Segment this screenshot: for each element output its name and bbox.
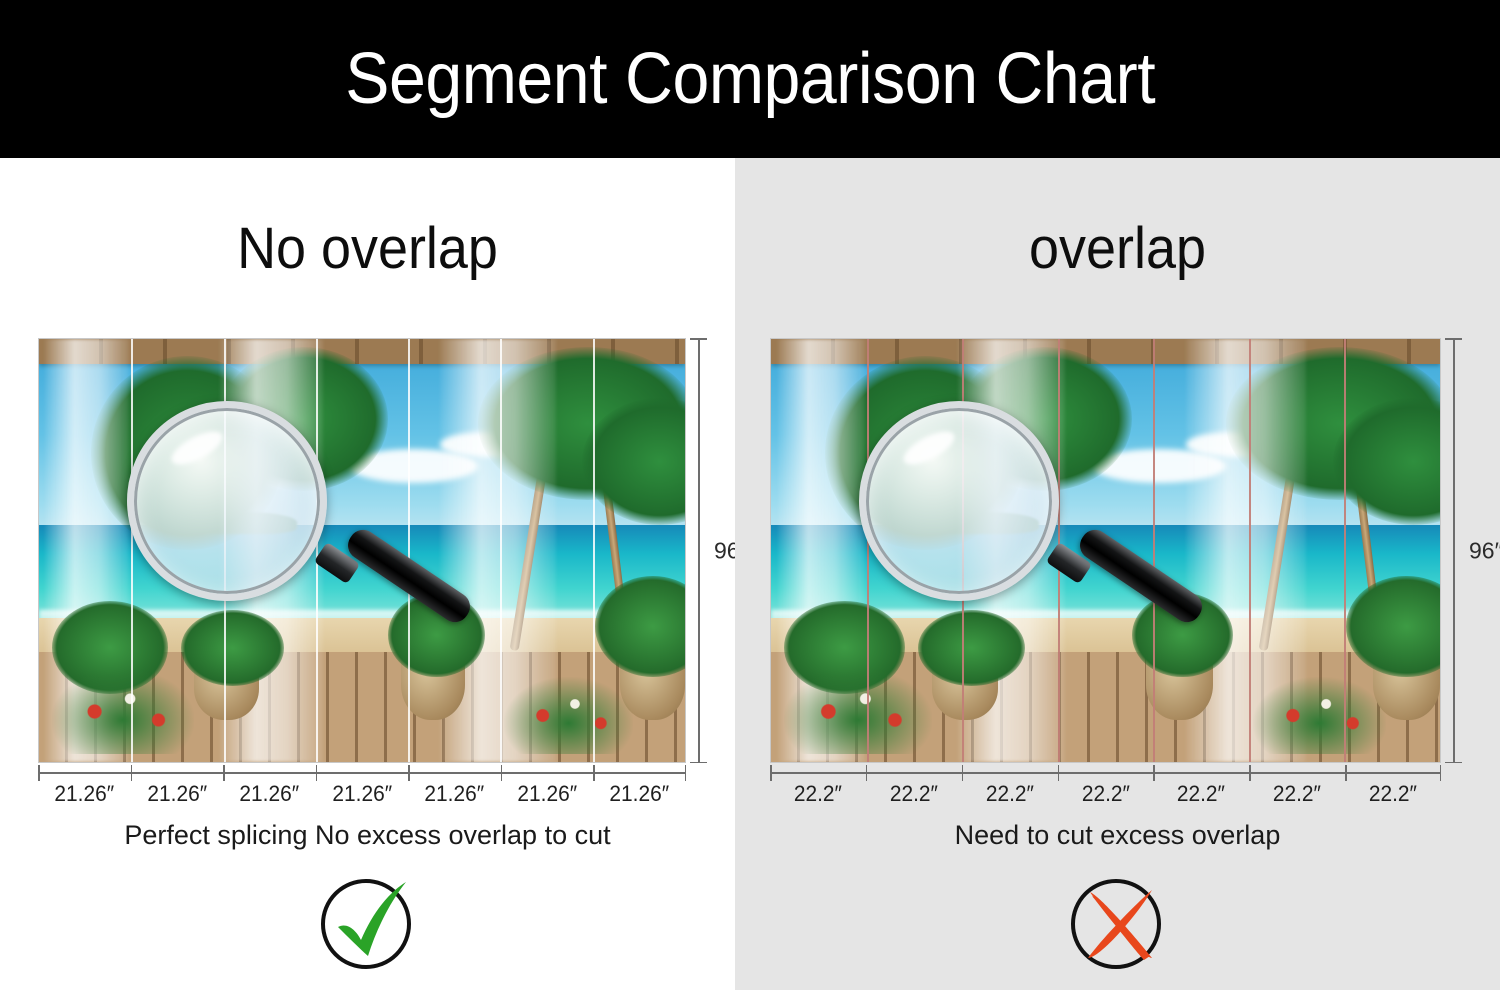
cross-mark-icon	[1066, 870, 1170, 974]
measure-line-vertical	[698, 338, 700, 763]
flower-cluster	[784, 669, 931, 754]
ruler-tick	[1440, 765, 1442, 781]
measure-cap-bottom	[1445, 762, 1462, 764]
ruler-tick	[1249, 765, 1251, 781]
mural-image-overlap	[770, 338, 1441, 763]
check-mark-icon	[316, 870, 420, 974]
segment-label: 21.26″	[225, 781, 313, 807]
panel-heading-no-overlap: No overlap	[26, 220, 710, 278]
mural-figure-no-overlap: 96″ 21.26″ 21.26″ 21.26″ 21.26″	[38, 338, 686, 763]
measure-line-vertical	[1453, 338, 1455, 763]
segment-label: 22.2″	[1060, 781, 1151, 807]
ruler-tick	[501, 765, 503, 781]
ruler-tick	[1058, 765, 1060, 781]
ruler-tick	[1345, 765, 1347, 781]
ruler-tick	[131, 765, 133, 781]
measure-cap-bottom	[690, 762, 707, 764]
segment-label: 21.26″	[503, 781, 591, 807]
magnifier-lens	[859, 401, 1059, 601]
ruler-tick	[408, 765, 410, 781]
seam-line-overlap	[1344, 339, 1346, 762]
ruler-tick	[685, 765, 687, 781]
seam-line	[500, 339, 502, 762]
potted-plant	[918, 610, 1025, 686]
panel-overlap: overlap	[735, 158, 1500, 990]
result-mark-no-overlap	[0, 870, 735, 974]
caption-overlap: Need to cut excess overlap	[735, 820, 1500, 851]
mural-image-no-overlap	[38, 338, 686, 763]
flower-cluster	[52, 669, 194, 754]
caption-no-overlap: Perfect splicing No excess overlap to cu…	[0, 820, 735, 851]
ruler-tick	[223, 765, 225, 781]
segment-label: 21.26″	[411, 781, 499, 807]
seam-line-overlap	[1249, 339, 1251, 762]
seam-line-overlap	[867, 339, 869, 762]
flower-cluster	[1253, 677, 1387, 753]
screenshot-root: Segment Comparison Chart No overlap	[0, 0, 1500, 990]
measure-line-horizontal	[38, 772, 686, 774]
segment-label: 22.2″	[1156, 781, 1247, 807]
seam-line	[131, 339, 133, 762]
ruler-tick	[1153, 765, 1155, 781]
page-title: Segment Comparison Chart	[345, 43, 1155, 115]
segment-label: 22.2″	[1252, 781, 1343, 807]
panel-heading-overlap: overlap	[762, 220, 1473, 278]
segment-label: 22.2″	[772, 781, 863, 807]
segment-label: 21.26″	[40, 781, 128, 807]
panel-no-overlap: No overlap	[0, 158, 735, 990]
ruler-tick	[316, 765, 318, 781]
height-label-overlap: 96″	[1469, 537, 1500, 564]
segment-label: 21.26″	[133, 781, 221, 807]
result-mark-overlap	[735, 870, 1500, 974]
magnifier-lens	[127, 401, 327, 601]
seam-line	[593, 339, 595, 762]
measure-line-horizontal	[770, 772, 1441, 774]
ruler-tick	[962, 765, 964, 781]
potted-plant	[181, 610, 284, 686]
segment-label: 22.2″	[868, 781, 959, 807]
ruler-tick	[770, 765, 772, 781]
ruler-tick	[593, 765, 595, 781]
ruler-tick	[866, 765, 868, 781]
seam-line	[408, 339, 410, 762]
seam-line-overlap	[1153, 339, 1155, 762]
title-banner: Segment Comparison Chart	[0, 0, 1500, 158]
segment-label: 21.26″	[596, 781, 684, 807]
segment-label: 21.26″	[318, 781, 406, 807]
segment-label: 22.2″	[964, 781, 1055, 807]
comparison-panels: No overlap	[0, 158, 1500, 990]
seam-line	[316, 339, 318, 762]
segment-label: 22.2″	[1348, 781, 1439, 807]
flower-cluster	[504, 677, 633, 753]
ruler-tick	[38, 765, 40, 781]
mural-figure-overlap: 96″ 22.2″ 22.2″ 22.2″ 22.2″ 22.2	[770, 338, 1441, 763]
